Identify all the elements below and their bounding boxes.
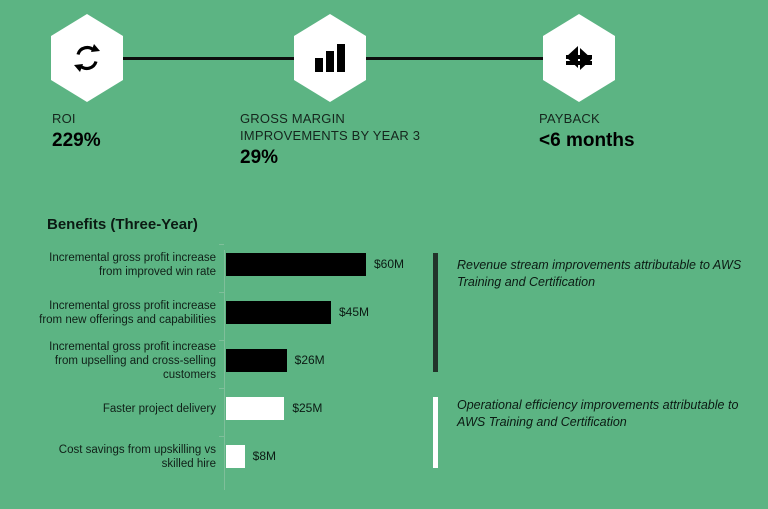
exchange-arrows-icon [562, 43, 596, 73]
bar-value-label: $25M [292, 397, 322, 420]
bar-value-label: $60M [374, 253, 404, 276]
bar [226, 253, 366, 276]
chart-row: Incremental gross profit increase from u… [0, 349, 768, 397]
bar-value-label: $45M [339, 301, 369, 324]
bar-category-label: Cost savings from upskilling vs skilled … [36, 443, 216, 471]
bar-category-label: Incremental gross profit increase from n… [36, 299, 216, 327]
kpi-roi-value: 229% [52, 129, 101, 153]
kpi-payback-label: PAYBACK [539, 110, 635, 127]
kpi-gross-margin-label: GROSS MARGIN [240, 110, 420, 127]
kpi-payback: PAYBACK <6 months [539, 110, 635, 153]
bar-value-label: $26M [295, 349, 325, 372]
bar [226, 301, 331, 324]
bar-category-label: Incremental gross profit increase from i… [36, 251, 216, 279]
chart-title: Benefits (Three-Year) [47, 216, 198, 233]
bar-value-label: $8M [253, 445, 276, 468]
kpi-hexagon-roi [51, 14, 123, 102]
bar-category-label: Incremental gross profit increase from u… [36, 340, 216, 382]
kpi-hexagon-payback [543, 14, 615, 102]
group-bracket-revenue [433, 253, 438, 372]
kpi-roi: ROI 229% [52, 110, 101, 153]
kpi-gross-margin-value: 29% [240, 146, 420, 170]
kpi-roi-label: ROI [52, 110, 101, 127]
kpi-band: ROI 229% GROSS MARGIN IMPROVEMENTS BY YE… [0, 0, 768, 180]
group-bracket-operational [433, 397, 438, 468]
kpi-gross-margin-label-line2: IMPROVEMENTS BY YEAR 3 [240, 127, 420, 144]
bar [226, 445, 245, 468]
kpi-hexagon-gross-margin [294, 14, 366, 102]
bar [226, 349, 287, 372]
bar-category-label: Faster project delivery [36, 402, 216, 416]
axis-tick [219, 244, 224, 245]
bar [226, 397, 284, 420]
connector-line-right [362, 57, 544, 60]
annotation-operational: Operational efficiency improvements attr… [457, 397, 747, 431]
benefits-bar-chart: Incremental gross profit increase from i… [0, 245, 768, 495]
refresh-cycle-icon [69, 40, 105, 76]
bar-chart-icon [314, 43, 346, 73]
connector-line-left [118, 57, 298, 60]
annotation-revenue: Revenue stream improvements attributable… [457, 257, 747, 291]
kpi-gross-margin: GROSS MARGIN IMPROVEMENTS BY YEAR 3 29% [240, 110, 420, 170]
chart-row: Cost savings from upskilling vs skilled … [0, 445, 768, 493]
kpi-payback-value: <6 months [539, 129, 635, 153]
infographic-page: ROI 229% GROSS MARGIN IMPROVEMENTS BY YE… [0, 0, 768, 509]
